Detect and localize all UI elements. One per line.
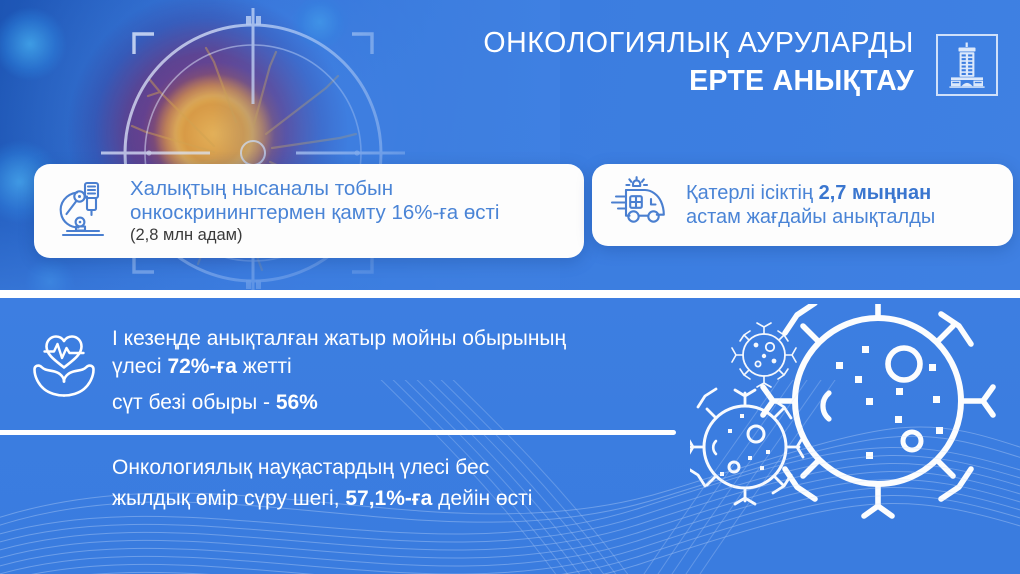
page-title-line-1: ОНКОЛОГИЯЛЫҚ АУРУЛАРДЫ (394, 24, 914, 62)
stat-five-year-survival: Онкологиялық науқастардың үлесі бес жылд… (112, 452, 732, 514)
card-cases-line-2: астам жағдайы анықталды (686, 205, 935, 229)
stat-survival-suffix: дейін өсті (432, 487, 532, 510)
stat-survival-value: 57,1%-ға (345, 487, 432, 510)
stat-cervical-line-1: І кезеңде анықталған жатыр мойны обырыны… (112, 325, 732, 353)
government-building-icon (945, 42, 989, 88)
card-screening-line-1: Халықтың нысаналы тобын (130, 177, 500, 201)
card-cases-value: 2,7 мыңнан (819, 182, 932, 204)
microscope-icon (52, 178, 116, 245)
card-cases-text: Қатерлі ісіктің 2,7 мыңнан астам жағдайы… (686, 181, 935, 230)
card-screening-subtext: (2,8 млн адам) (130, 226, 500, 245)
stat-cervical-value: 72%-ға (167, 355, 236, 378)
stat-cervical-suffix: жетті (237, 355, 292, 378)
section-divider-band (0, 290, 1020, 298)
header-title-block: ОНКОЛОГИЯЛЫҚ АУРУЛАРДЫ ЕРТЕ АНЫҚТАУ (394, 24, 914, 100)
stat-survival-line-2: жылдық өмір сүру шегі, 57,1%-ға дейін өс… (112, 483, 732, 514)
stat-survival-prefix: жылдық өмір сүру шегі, (112, 487, 345, 510)
stat-cervical-cancer: І кезеңде анықталған жатыр мойны обырыны… (112, 325, 732, 381)
stat-survival-line-1: Онкологиялық науқастардың үлесі бес (112, 452, 732, 483)
page-title-line-2: ЕРТЕ АНЫҚТАУ (394, 62, 914, 100)
card-cases-prefix: Қатерлі ісіктің (686, 182, 819, 204)
horizontal-rule-divider (0, 430, 676, 435)
stat-breast-value: 56% (276, 391, 318, 414)
card-detected-cases: Қатерлі ісіктің 2,7 мыңнан астам жағдайы… (592, 164, 1013, 246)
stat-cervical-line-2: үлесі 72%-ға жетті (112, 353, 732, 381)
stat-breast-cancer: сүт безі обыры - 56% (112, 389, 318, 417)
stat-cervical-prefix: үлесі (112, 355, 167, 378)
logo-frame (936, 34, 998, 96)
ambulance-icon (606, 176, 672, 235)
heart-in-hands-icon (26, 326, 102, 398)
card-screening-coverage: Халықтың нысаналы тобын онкоскринингтерм… (34, 164, 584, 258)
card-cases-line-1: Қатерлі ісіктің 2,7 мыңнан (686, 181, 935, 205)
stat-breast-prefix: сүт безі обыры - (112, 391, 276, 414)
card-screening-line-2: онкоскринингтермен қамту 16%-ға өсті (130, 201, 500, 225)
card-screening-text: Халықтың нысаналы тобын онкоскринингтерм… (130, 177, 500, 246)
infographic-poster: ОНКОЛОГИЯЛЫҚ АУРУЛАРДЫ ЕРТЕ АНЫҚТАУ (0, 0, 1020, 574)
